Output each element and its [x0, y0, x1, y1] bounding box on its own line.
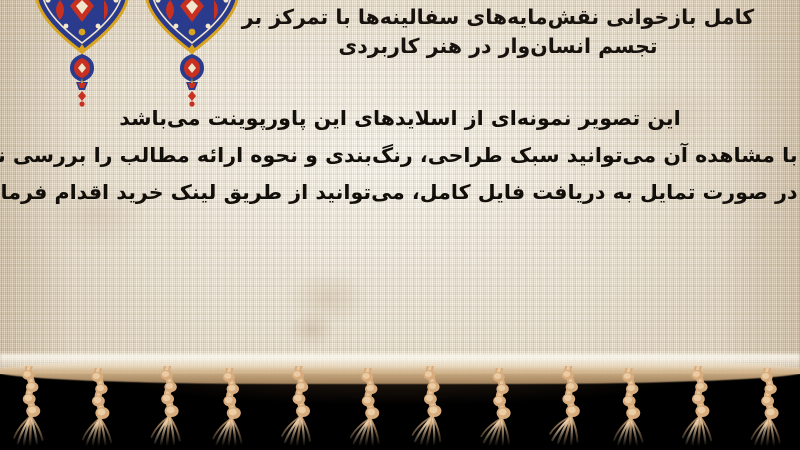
fringe-tassel: [142, 366, 196, 448]
slide-body-line-1: این تصویر نمونه‌ای از اسلایدهای این پاور…: [2, 108, 797, 128]
slide-body-line-2: با مشاهده آن می‌توانید سبک طراحی، رنگ‌بن…: [2, 145, 797, 165]
fringe-tassel: [404, 366, 458, 448]
fringe-tassel: [473, 368, 527, 450]
fringe-tassel: [204, 368, 258, 450]
slide-canvas: کامل بازخوانی نقش‌مایه‌های سفالینه‌ها با…: [0, 0, 800, 450]
carpet-fringe: [0, 352, 800, 450]
fringe-tassel: [73, 368, 127, 450]
fringe-tassel: [342, 368, 396, 450]
fringe-tassel: [742, 368, 796, 450]
fringe-tassel: [673, 366, 727, 448]
fringe-tassel: [542, 366, 596, 448]
fringe-tassel: [4, 366, 58, 448]
fringe-tassel: [604, 368, 658, 450]
slide-body: این تصویر نمونه‌ای از اسلایدهای این پاور…: [14, 108, 786, 202]
slide-body-line-3: در صورت تمایل به دریافت فایل کامل، می‌تو…: [2, 182, 797, 202]
persian-medallion-ornament-left: [28, 0, 136, 116]
slide-title: کامل بازخوانی نقش‌مایه‌های سفالینه‌ها با…: [218, 3, 778, 61]
fringe-tassel: [273, 366, 327, 448]
slide-title-line-2: تجسم انسان‌وار در هنر کاربردی: [218, 32, 778, 61]
slide-title-line-1: کامل بازخوانی نقش‌مایه‌های سفالینه‌ها با…: [218, 3, 778, 32]
